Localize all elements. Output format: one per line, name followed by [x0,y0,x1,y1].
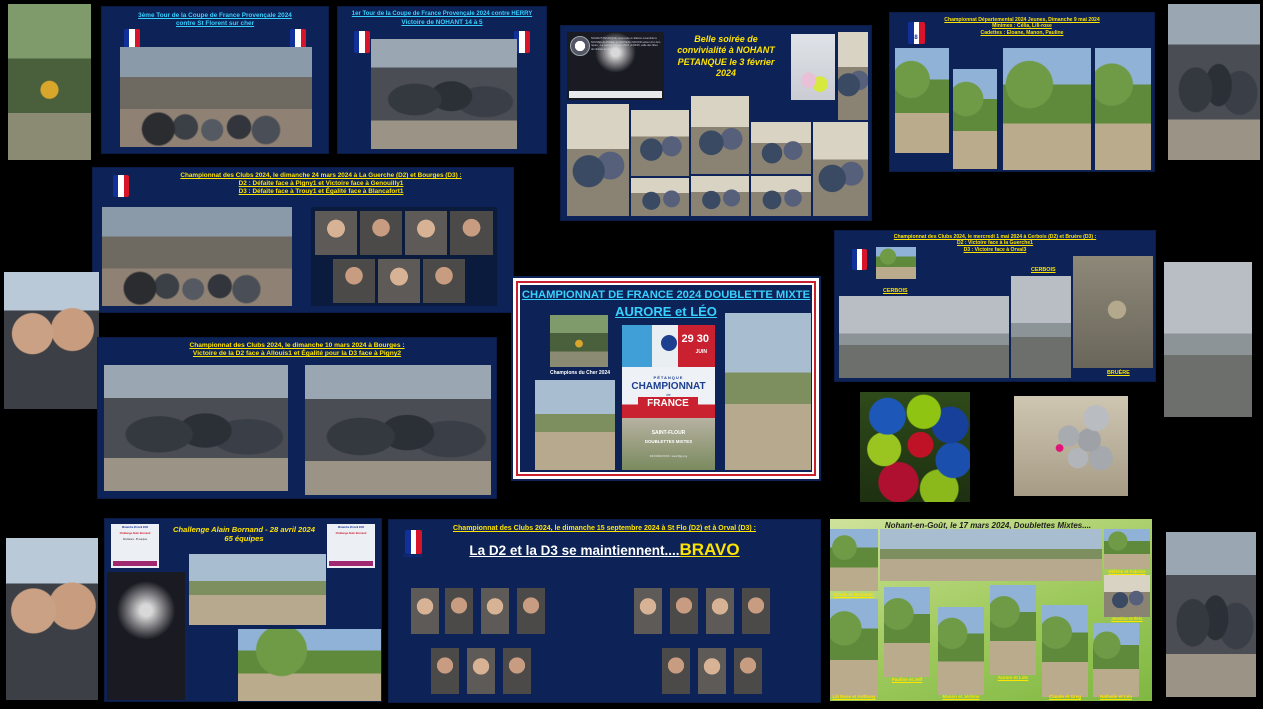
affiche-line2: Challenge Alain Bornand [111,532,159,535]
side-photo-bottom-right [1166,532,1256,697]
panel-title-line1: 3ème Tour de la Coupe de France Provença… [102,7,328,20]
champions-cher-caption: Champions du Cher 2024 [530,370,630,376]
dinner-photo-2 [567,104,629,216]
dinner-photo-5 [691,96,749,174]
portrait [378,259,420,303]
dinner-photo-6 [691,176,749,216]
club-badge-label: Clubs 2024 [403,554,422,558]
panel-coupe-1er-tour: 1er Tour de la Coupe de France Provençal… [337,6,547,154]
label-cerbois-1: CERBOIS [883,288,908,294]
doublette-caption-3: Pauline et Jeff [884,677,930,682]
poster-pre: PÉTANQUE [622,375,715,380]
panel-clubs-10-mars: Championnat des Clubs 2024, le dimanche … [97,337,497,499]
team-photo [120,47,312,147]
side-photo-bottom-left [6,538,98,700]
doublette-photo-6 [1042,605,1088,697]
panel-challenge-alain-bornand: Dimanche 28 avril 2024 Challenge Alain B… [104,518,382,702]
portrait [431,648,459,694]
bruere-photo [1073,256,1153,368]
portrait [333,259,375,303]
side-photo-top-left [8,4,91,160]
panel-title-line1: CHAMPIONNAT DE FRANCE 2024 DOUBLETTE MIX… [520,285,812,302]
dinner-photo-3 [631,110,689,176]
panel-title-line1: Championnat Départemental 2024 Jeunes, D… [890,13,1154,23]
panel-title-line1: Championnat des Clubs 2024, le mercredi … [835,231,1155,240]
poster-dates: 29 30 [681,333,709,345]
collage-canvas: 3ème Tour de la Coupe de France Provença… [0,0,1263,709]
side-photo-top-right [1168,4,1260,160]
jeunes-photo-2 [953,69,997,169]
photo-boules [1014,396,1128,496]
portrait [734,648,762,694]
label-bruere: BRUÈRE [1107,370,1130,376]
dinner-photo-1 [838,32,868,120]
panel-title-line1: 1er Tour de la Coupe de France Provençal… [338,7,546,19]
portrait [481,588,509,634]
team-photo-d2 [104,365,288,491]
panel-title-bravo: BRAVO [679,540,739,559]
club-badge-flag [113,175,129,197]
jeunes-photo-1 [895,48,949,153]
doublette-photo-1 [830,529,878,591]
trophy-night-photo [107,572,185,700]
cerbois-photo-large [839,296,1009,378]
poster-title-championnat: CHAMPIONNAT [622,381,715,392]
dinner-photo-8 [751,176,811,216]
portrait [662,648,690,694]
portrait [467,648,495,694]
competition-photo-1 [189,554,326,625]
doublette-caption-8: Hélène et Fabrice [1104,569,1150,574]
portrait [360,211,402,255]
doublette-caption-5: Aurore et Loïc [990,675,1036,680]
dinner-photo-7 [751,122,811,174]
panel-clubs-24-mars: Championnat des Clubs 2024, le dimanche … [92,167,514,313]
portrait [423,259,465,303]
doublette-panorama [880,529,1102,581]
champions-cher-photo [550,315,608,367]
affiche-line1: Dimanche 28 avril 2024 [111,524,159,529]
dinner-photo-4 [631,178,689,216]
panel-title-line1: Challenge Alain Bornand - 28 avril 2024 [161,525,327,534]
doublette-photo-9 [1104,575,1150,617]
doublette-photo-5 [990,585,1036,675]
doublette-caption-2: Lili Rose et Anthony [830,694,878,699]
portrait [503,648,531,694]
poster-category: DOUBLETTES MIXTES [622,439,715,444]
doublette-caption-9: Jessica et Éric [1104,616,1150,621]
side-photo-mid-left [4,272,99,409]
pair-photo-right [725,313,811,470]
club-badge-flag [852,249,867,270]
doublette-caption-4: Manon et Jérôme [938,694,984,699]
panel-coupe-3eme-tour: 3ème Tour de la Coupe de France Provença… [101,6,329,154]
panel-title-line2: Victoire de NOHANT 14 à 5 [338,19,546,27]
panel-nohant-doublettes-mixtes: Nohant-en-Goût, le 17 mars 2024, Doublet… [828,517,1154,703]
soiree-affiche: NOHANT PETANQUE vous invite à célébrer e… [567,32,664,100]
panel-clubs-1-mai: Championnat des Clubs 2024, le mercredi … [834,230,1156,382]
poster-month: JUIN [696,349,707,355]
pair-photo-left [535,380,615,470]
jeunes-photo-4 [1095,48,1151,170]
affiche-line3: Doublettes - 65 équipes [111,539,159,541]
affiche-text: NOHANT PETANQUE vous invite à célébrer e… [591,37,661,51]
doublette-caption-7: Nathalie et Léo [1093,694,1139,699]
affiche-right: Dimanche 28 avril 2024 Challenge Alain B… [327,524,375,568]
panel-title-line2: Victoire de la D2 face à Allouis1 et Éga… [98,350,496,358]
dinner-photo-9 [813,122,868,216]
panel-title-line3: D3 : Défaite face à Trouy1 et Égalité fa… [135,188,507,196]
portrait [517,588,545,634]
club-badge-flag [405,530,422,554]
poster-title-france: FRANCE [638,397,698,410]
competition-photo-2 [238,629,382,701]
flowers-photo [876,247,916,279]
panel-title-line1: Championnat des Clubs 2024, le dimanche … [389,520,820,534]
doublette-photo-3 [884,587,930,677]
portrait [411,588,439,634]
panel-title-line2: D2 : Défaite face à Pigny1 et Victoire f… [135,180,507,188]
jeunes-photo-3 [1003,48,1091,170]
team-photo [371,39,517,149]
portraits-grid [311,207,497,306]
affiche-line1: Dimanche 28 avril 2024 [327,524,375,529]
panel-title-line2: contre St Florent sur cher [102,20,328,28]
france-championship-poster: 29 30 JUIN PÉTANQUE CHAMPIONNAT de FRANC… [622,325,715,470]
portrait [450,211,493,255]
portrait [698,648,726,694]
panel-title-line2: convivialité à NOHANT [666,45,786,56]
portrait [445,588,473,634]
panel-title-line2: 65 équipes [161,534,327,543]
decoration-photo [791,34,835,100]
club-badge-flag-left [354,31,370,53]
portrait [670,588,698,634]
side-photo-mid-right [1164,262,1252,417]
panel-clubs-15-septembre: Clubs 2024 Championnat des Clubs 2024, l… [388,519,821,703]
panel-france-doublette-mixte: CHAMPIONNAT DE FRANCE 2024 DOUBLETTE MIX… [511,276,821,481]
panel-title-line1: Championnat des Clubs 2024, le dimanche … [98,338,496,350]
panel-title-line4: 2024 [666,68,786,79]
panel-title-line2: La D2 et la D3 se maintiennent.... [469,543,679,558]
doublette-caption-1: Eloale et Benjamin [830,592,878,597]
cerbois-photo-small [1011,276,1071,378]
doublette-photo-4 [938,607,984,695]
portrait [706,588,734,634]
doublette-photo-7 [1093,623,1139,697]
team-photo-d3 [305,365,491,495]
portrait [742,588,770,634]
panel-title-line1: Belle soirée de [666,34,786,45]
doublette-photo-8 [1104,529,1150,569]
portrait [405,211,447,255]
portrait [315,211,357,255]
affiche-left: Dimanche 28 avril 2024 Challenge Alain B… [111,524,159,568]
badge-18-label: 18 [911,35,918,41]
panel-soiree-convivialite: NOHANT PETANQUE vous invite à célébrer e… [560,25,872,221]
photo-balloons [860,392,970,502]
portrait [634,588,662,634]
doublette-caption-6: Claude et Greg [1042,694,1088,699]
doublette-photo-2 [830,599,878,697]
panel-title-line3: Cadettes : Eloane, Manon, Pauline [890,30,1154,36]
panel-departemental-jeunes: 18 Championnat Départemental 2024 Jeunes… [889,12,1155,172]
poster-footer: INFORMATIONS : www.ffpjp.org [622,455,715,458]
panel-title-line3: PETANQUE le 3 février [666,57,786,68]
panel-title-line1: Championnat des Clubs 2024, le dimanche … [135,172,507,180]
label-cerbois-2: CERBOIS [1031,267,1056,273]
affiche-line2: Challenge Alain Bornand [327,532,375,535]
group-photo [102,207,292,306]
poster-place: SAINT-FLOUR [622,430,715,436]
